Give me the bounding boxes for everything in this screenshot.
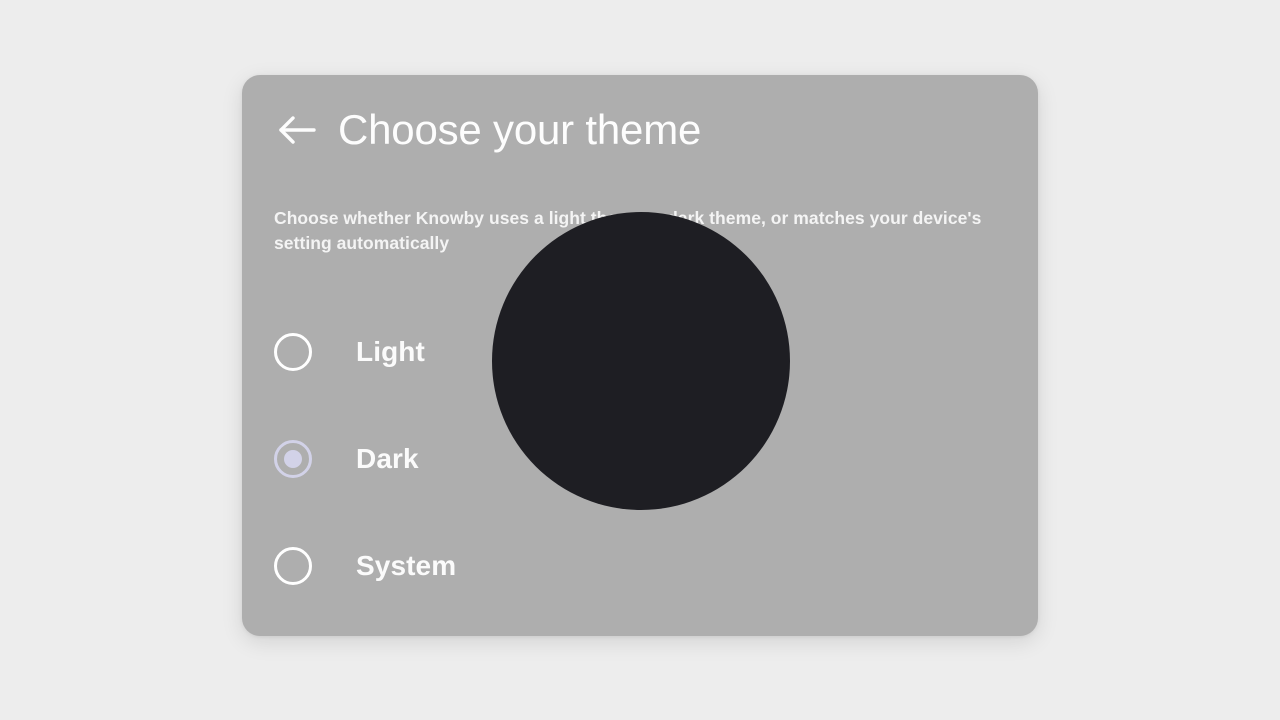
theme-option-light[interactable]: Light (274, 325, 1014, 379)
theme-settings-card: Choose your theme Choose whether Knowby … (242, 75, 1038, 636)
back-button[interactable] (274, 107, 320, 153)
arrow-left-icon (278, 115, 316, 145)
theme-option-dark-label: Dark (356, 445, 419, 473)
page-title: Choose your theme (338, 109, 701, 151)
card-header: Choose your theme (274, 101, 1014, 159)
theme-options-list: Light Dark System (274, 325, 1014, 593)
theme-option-system[interactable]: System (274, 539, 1014, 593)
theme-option-dark[interactable]: Dark (274, 432, 1014, 486)
card-description: Choose whether Knowby uses a light theme… (274, 206, 1016, 256)
screen: Choose your theme Choose whether Knowby … (0, 0, 1280, 720)
theme-option-system-label: System (356, 552, 456, 580)
radio-dark[interactable] (274, 440, 312, 478)
theme-option-light-label: Light (356, 338, 425, 366)
radio-light[interactable] (274, 333, 312, 371)
radio-system[interactable] (274, 547, 312, 585)
